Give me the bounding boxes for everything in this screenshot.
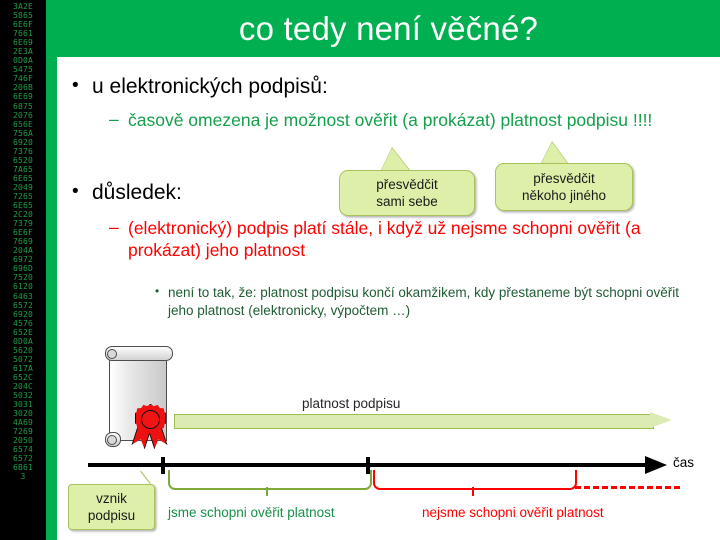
bubble-line-1: přesvědčit	[376, 176, 438, 193]
validity-arrow-label: platnost podpisu	[302, 396, 400, 411]
bubble-tail-icon-2	[541, 142, 568, 164]
bubble-line-1: přesvědčit	[533, 170, 595, 187]
bullet-text: (elektronický) podpis platí stále, i kdy…	[128, 218, 641, 260]
bracket-unverifiable-period	[373, 470, 577, 490]
bubble-tail-icon-1	[381, 148, 410, 171]
bubble-line-2: sami sebe	[376, 193, 438, 210]
bullet-level2-signature-still-valid: – (elektronický) podpis platí stále, i k…	[128, 218, 703, 261]
bracket-unverifiable-stem	[472, 487, 474, 496]
scroll-top-roll-end	[107, 349, 117, 359]
scroll-bottom-roll-end	[107, 435, 117, 445]
time-axis-arrow-head	[645, 456, 667, 474]
unverifiable-dashed-continuation	[575, 486, 680, 489]
bullet-level1-electronic-signatures: • u elektronických podpisů:	[92, 74, 692, 99]
hex-dump-text: 3A2E 5865 6E6F 7661 6E69 2E3A 0D0A 5475 …	[0, 2, 46, 481]
page-title: co tedy není věčné?	[57, 4, 720, 54]
validity-arrow	[174, 412, 674, 429]
bullet-marker-dot: •	[72, 73, 79, 98]
origin-line-2: podpisu	[88, 507, 135, 524]
bracket-label-verifiable: jsme schopni ověřit platnost	[168, 505, 335, 520]
certificate-scroll-icon	[103, 344, 173, 449]
callout-bubble-convince-ourselves: přesvědčit sami sebe	[339, 170, 475, 216]
bullet-level2-time-limited: – časově omezena je možnost ověřit (a pr…	[128, 110, 703, 132]
origin-line-1: vznik	[96, 490, 127, 507]
validity-arrow-head	[650, 412, 672, 428]
bullet-marker-dot: •	[72, 179, 79, 204]
validity-arrow-body	[174, 414, 654, 429]
bracket-verifiable-stem	[266, 487, 268, 496]
slide-canvas: 3A2E 5865 6E6F 7661 6E69 2E3A 0D0A 5475 …	[0, 0, 720, 540]
bullet-text: není to tak, že: platnost podpisu končí …	[168, 285, 679, 318]
callout-signature-creation: vznik podpisu	[68, 484, 155, 530]
bracket-label-unverifiable: nejsme schopni ověřit platnost	[422, 505, 604, 520]
left-green-accent-bar	[46, 0, 57, 540]
seal-rosette-center	[141, 410, 160, 429]
bullet-text: důsledek:	[92, 181, 182, 204]
bullet-marker-dash: –	[109, 217, 119, 239]
bullet-level3-clarification: • není to tak, že: platnost podpisu konč…	[168, 284, 708, 319]
callout-bubble-convince-someone-else: přesvědčit někoho jiného	[495, 163, 633, 211]
hex-dump-strip: 3A2E 5865 6E6F 7661 6E69 2E3A 0D0A 5475 …	[0, 0, 46, 540]
time-axis-label: čas	[673, 455, 694, 470]
bullet-text: u elektronických podpisů:	[92, 75, 328, 98]
bullet-marker-dot: •	[155, 283, 159, 301]
bullet-text: časově omezena je možnost ověřit (a prok…	[128, 110, 652, 130]
bubble-line-2: někoho jiného	[522, 187, 606, 204]
bullet-marker-dash: –	[109, 109, 119, 131]
bracket-verifiable-period	[168, 470, 372, 490]
